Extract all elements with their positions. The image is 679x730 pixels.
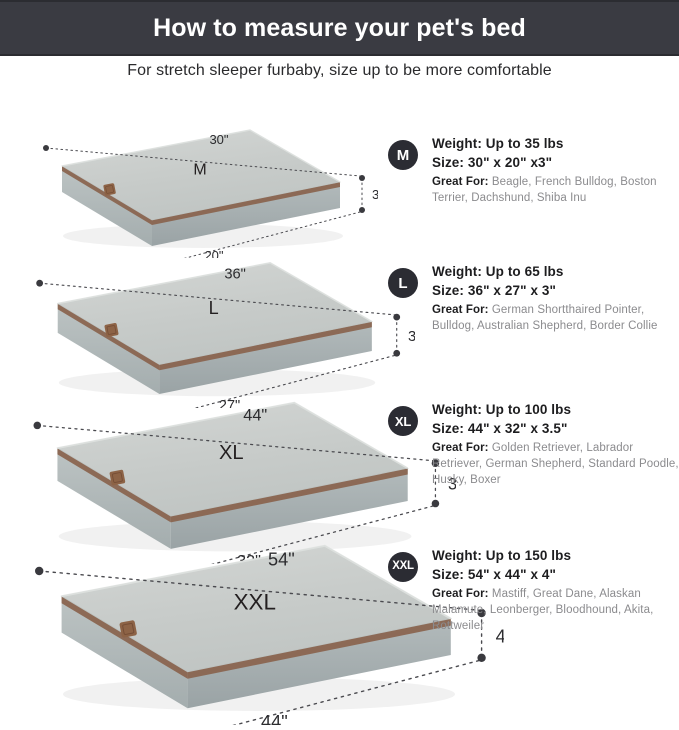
great-for-label: Great For: bbox=[432, 588, 489, 600]
dimension-length-label: 54" bbox=[268, 549, 295, 569]
size-row-XXL: XXL 54" 4" 44" XXL bbox=[0, 515, 679, 667]
bed-brand-tag bbox=[104, 323, 119, 338]
size-line: Size: 30" x 20" x3" bbox=[432, 155, 679, 170]
page-header: How to measure your pet's bed bbox=[0, 0, 679, 56]
size-badge-M[interactable]: M bbox=[388, 140, 418, 170]
size-badge-XXL[interactable]: XXL bbox=[388, 552, 418, 582]
page-title: How to measure your pet's bed bbox=[153, 16, 526, 41]
dimension-depth-label: 44" bbox=[261, 712, 288, 725]
great-for-line: Great For: Golden Retriever, Labrador Re… bbox=[432, 440, 679, 488]
weight-line: Weight: Up to 35 lbs bbox=[432, 136, 679, 151]
bed-size-marker-M: M bbox=[193, 162, 206, 179]
dimension-height-label: 3" bbox=[408, 329, 415, 345]
bed-brand-tag bbox=[119, 620, 137, 638]
bed-size-letter: XL bbox=[219, 442, 244, 464]
bed-brand-tag bbox=[103, 183, 116, 196]
bed-illustration-XXL: XXL 54" 4" 44" bbox=[0, 515, 504, 725]
great-for-line: Great For: German Shortthaired Pointer, … bbox=[432, 302, 679, 334]
weight-line: Weight: Up to 65 lbs bbox=[432, 264, 679, 279]
bed-art-XXL: XXL 54" 4" 44" bbox=[0, 515, 504, 730]
size-text-block-XL: Weight: Up to 100 lbs Size: 44" x 32" x … bbox=[432, 402, 679, 488]
size-badge-L[interactable]: L bbox=[388, 268, 418, 298]
size-badge-label: L bbox=[398, 276, 407, 291]
size-badge-label: M bbox=[397, 148, 410, 163]
bed-size-marker-XL: XL bbox=[219, 442, 244, 464]
great-for-line: Great For: Beagle, French Bulldog, Bosto… bbox=[432, 174, 679, 206]
great-for-label: Great For: bbox=[432, 304, 489, 316]
dimension-length-label: 36" bbox=[224, 267, 246, 283]
great-for-label: Great For: bbox=[432, 442, 489, 454]
bed-size-letter: M bbox=[193, 162, 206, 179]
size-line: Size: 36" x 27" x 3" bbox=[432, 283, 679, 298]
size-text-block-L: Weight: Up to 65 lbs Size: 36" x 27" x 3… bbox=[432, 264, 679, 334]
weight-line: Weight: Up to 150 lbs bbox=[432, 548, 679, 563]
size-row-XL: XL 44" 3.5" 32" XL bbox=[0, 375, 679, 525]
size-text-block-XXL: Weight: Up to 150 lbs Size: 54" x 44" x … bbox=[432, 548, 679, 634]
bed-illustration-M: M 30" 3" 20" bbox=[18, 108, 378, 258]
bed-brand-tag bbox=[109, 469, 125, 485]
bed-size-letter: XXL bbox=[234, 589, 276, 614]
size-text-block-M: Weight: Up to 35 lbs Size: 30" x 20" x3"… bbox=[432, 136, 679, 206]
bed-size-marker-XXL: XXL bbox=[234, 589, 276, 614]
size-line: Size: 54" x 44" x 4" bbox=[432, 567, 679, 582]
size-line: Size: 44" x 32" x 3.5" bbox=[432, 421, 679, 436]
bed-size-letter: L bbox=[209, 298, 219, 318]
dimension-length-label: 30" bbox=[209, 132, 228, 147]
size-badge-XL[interactable]: XL bbox=[388, 406, 418, 436]
size-row-M: M 30" 3" 20" M We bbox=[0, 108, 679, 238]
weight-line: Weight: Up to 100 lbs bbox=[432, 402, 679, 417]
great-for-line: Great For: Mastiff, Great Dane, Alaskan … bbox=[432, 586, 679, 634]
great-for-label: Great For: bbox=[432, 176, 489, 188]
dimension-length-label: 44" bbox=[243, 406, 267, 424]
pet-bed-size-guide: How to measure your pet's bed For stretc… bbox=[0, 0, 679, 667]
dimension-height-label: 3" bbox=[372, 187, 378, 202]
size-badge-label: XL bbox=[395, 415, 411, 428]
size-badge-label: XXL bbox=[392, 561, 413, 573]
page-subtitle: For stretch sleeper furbaby, size up to … bbox=[0, 62, 679, 80]
size-row-L: L 36" 3" 27" L We bbox=[0, 238, 679, 378]
bed-size-marker-L: L bbox=[209, 298, 219, 318]
